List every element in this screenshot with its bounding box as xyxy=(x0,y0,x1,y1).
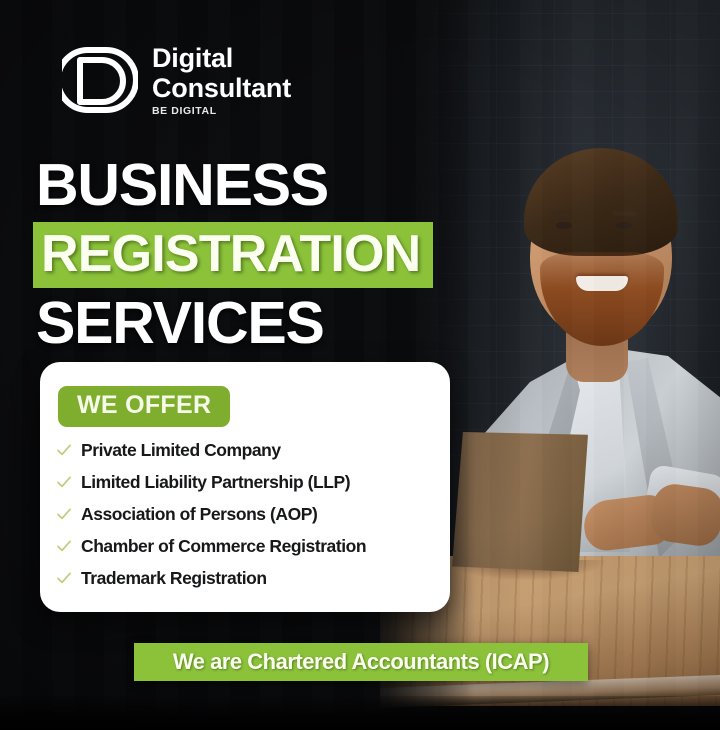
poster: Digital Consultant BE DIGITAL BUSINESS R… xyxy=(0,0,720,730)
brand-name-line2: Consultant xyxy=(152,75,291,102)
offer-label: Private Limited Company xyxy=(81,440,281,461)
credentials-text: We are Chartered Accountants (ICAP) xyxy=(173,649,549,675)
headline-line-2: REGISTRATION xyxy=(41,228,433,280)
credentials-banner: We are Chartered Accountants (ICAP) xyxy=(134,643,588,681)
offer-label: Limited Liability Partnership (LLP) xyxy=(81,472,350,493)
check-icon xyxy=(56,570,72,586)
bottom-dark-strip xyxy=(0,696,720,730)
offer-list: Private Limited Company Limited Liabilit… xyxy=(56,434,438,594)
list-item: Chamber of Commerce Registration xyxy=(56,530,438,562)
brand-wordmark: Digital Consultant BE DIGITAL xyxy=(152,43,291,117)
brand-name-line1: Digital xyxy=(152,45,291,72)
check-icon xyxy=(56,442,72,458)
headline-line-1: BUSINESS xyxy=(36,156,456,215)
brand-tagline: BE DIGITAL xyxy=(152,106,291,117)
digital-consultant-d-monogram-icon xyxy=(62,42,138,118)
check-icon xyxy=(56,538,72,554)
list-item: Association of Persons (AOP) xyxy=(56,498,438,530)
headline: BUSINESS REGISTRATION SERVICES xyxy=(36,156,456,353)
brand-logo: Digital Consultant BE DIGITAL xyxy=(62,42,291,118)
headline-highlight-bar: REGISTRATION xyxy=(33,222,433,288)
offer-card: WE OFFER Private Limited Company Limited… xyxy=(40,362,450,612)
list-item: Limited Liability Partnership (LLP) xyxy=(56,466,438,498)
we-offer-badge: WE OFFER xyxy=(58,386,230,427)
list-item: Trademark Registration xyxy=(56,562,438,594)
offer-label: Trademark Registration xyxy=(81,568,267,589)
check-icon xyxy=(56,474,72,490)
offer-label: Chamber of Commerce Registration xyxy=(81,536,366,557)
headline-line-3: SERVICES xyxy=(36,294,456,353)
list-item: Private Limited Company xyxy=(56,434,438,466)
check-icon xyxy=(56,506,72,522)
offer-label: Association of Persons (AOP) xyxy=(81,504,317,525)
